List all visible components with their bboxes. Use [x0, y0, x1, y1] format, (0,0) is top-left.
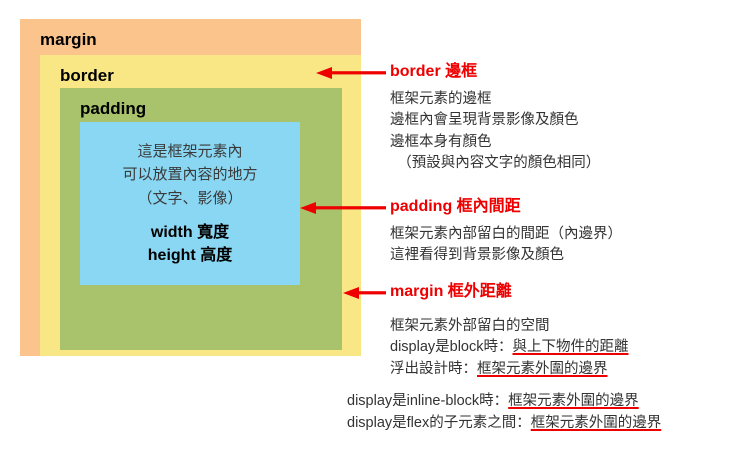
content-height-label: height 高度: [148, 244, 232, 267]
padding-layer-label: padding: [80, 100, 146, 117]
margin-extra-line-2: display是flex的子元素之間：框架元素外圍的邊界: [347, 413, 661, 435]
margin-note-line-2-text: display是block時：: [390, 339, 513, 355]
margin-note-heading: margin 框外距離: [390, 284, 512, 300]
border-note-heading: border 邊框: [390, 64, 477, 80]
padding-layer: padding 這是框架元素內 可以放置內容的地方 （文字、影像） width …: [60, 88, 342, 350]
border-note-line-4: （預設與內容文字的顏色相同）: [390, 153, 600, 174]
margin-extra-line-1-emphasis: 框架元素外圍的邊界: [508, 393, 639, 409]
border-arrow: [316, 66, 386, 80]
padding-note-line-2: 這裡看得到背景影像及顏色: [390, 245, 622, 266]
padding-note-body: 框架元素內部留白的間距（內邊界） 這裡看得到背景影像及顏色: [390, 224, 622, 267]
margin-layer-label: margin: [40, 31, 97, 48]
margin-note-line-2-emphasis: 與上下物件的距離: [513, 339, 629, 355]
content-dimensions: width 寬度 height 高度: [148, 221, 232, 267]
padding-arrow: [300, 201, 386, 215]
border-layer-label: border: [60, 67, 114, 84]
content-line-3: （文字、影像）: [137, 187, 242, 210]
margin-note-line-1: 框架元素外部留白的空間: [390, 316, 629, 337]
margin-extra-line-2-text: display是flex的子元素之間：: [347, 415, 531, 431]
content-line-1: 這是框架元素內: [137, 140, 242, 163]
margin-note-line-3-text: 浮出設計時：: [390, 361, 477, 377]
border-note-line-3: 邊框本身有顏色: [390, 132, 600, 153]
margin-note-line-2: display是block時：與上下物件的距離: [390, 337, 629, 358]
margin-note-line-3-emphasis: 框架元素外圍的邊界: [477, 361, 608, 377]
margin-extra-line-2-emphasis: 框架元素外圍的邊界: [531, 415, 662, 431]
border-note-body: 框架元素的邊框 邊框內會呈現背景影像及顏色 邊框本身有顏色 （預設與內容文字的顏…: [390, 89, 600, 175]
margin-arrow: [343, 286, 386, 300]
margin-note-extra: display是inline-block時：框架元素外圍的邊界 display是…: [347, 391, 661, 435]
margin-extra-line-1-text: display是inline-block時：: [347, 393, 508, 409]
margin-note-body: 框架元素外部留白的空間 display是block時：與上下物件的距離 浮出設計…: [390, 316, 629, 380]
content-layer: 這是框架元素內 可以放置內容的地方 （文字、影像） width 寬度 heigh…: [80, 122, 300, 285]
border-note-line-1: 框架元素的邊框: [390, 89, 600, 110]
content-width-label: width 寬度: [148, 221, 232, 244]
content-line-2: 可以放置內容的地方: [122, 163, 257, 186]
box-model-diagram: margin border padding 這是框架元素內 可以放置內容的地方 …: [20, 19, 361, 356]
margin-note-line-1-text: 框架元素外部留白的空間: [390, 318, 550, 334]
margin-note-line-3: 浮出設計時：框架元素外圍的邊界: [390, 359, 629, 380]
padding-note-line-1: 框架元素內部留白的間距（內邊界）: [390, 224, 622, 245]
padding-note-heading: padding 框內間距: [390, 199, 521, 215]
border-note-line-2: 邊框內會呈現背景影像及顏色: [390, 110, 600, 131]
margin-extra-line-1: display是inline-block時：框架元素外圍的邊界: [347, 391, 661, 413]
